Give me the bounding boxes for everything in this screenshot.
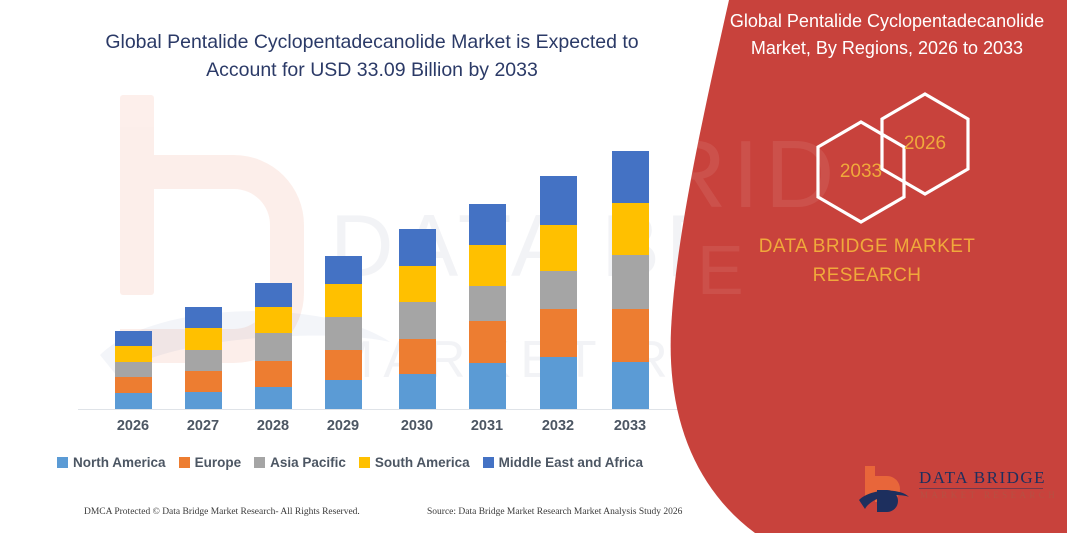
bar-segment-europe bbox=[469, 321, 506, 363]
bar-segment-middle-east-and-africa bbox=[185, 307, 222, 328]
brand-logo: DATA BRIDGE MARKET RESEARCH bbox=[857, 462, 1047, 520]
x-axis-label-2027: 2027 bbox=[173, 418, 233, 434]
footer-source: Source: Data Bridge Market Research Mark… bbox=[427, 507, 682, 517]
bar-segment-north-america bbox=[612, 362, 649, 409]
x-axis-labels: 20262027202820292030203120322033 bbox=[0, 418, 720, 442]
infographic-canvas: DATA BRI MARKET RESEARCH Global Pentalid… bbox=[0, 0, 1067, 533]
legend-item-middle-east-and-africa[interactable]: Middle East and Africa bbox=[483, 455, 643, 470]
bar-segment-middle-east-and-africa bbox=[325, 256, 362, 284]
bar-segment-south-america bbox=[540, 225, 577, 271]
footer: DMCA Protected © Data Bridge Market Rese… bbox=[0, 507, 700, 527]
chart-legend: North AmericaEuropeAsia PacificSouth Ame… bbox=[0, 455, 700, 470]
bar-segment-north-america bbox=[399, 374, 436, 409]
bar-segment-middle-east-and-africa bbox=[255, 283, 292, 307]
x-axis-label-2032: 2032 bbox=[528, 418, 588, 434]
bar-2027[interactable] bbox=[185, 307, 222, 409]
bar-segment-europe bbox=[612, 309, 649, 362]
x-axis-line bbox=[78, 409, 678, 410]
bar-segment-asia-pacific bbox=[399, 302, 436, 339]
bar-2033[interactable] bbox=[612, 151, 649, 409]
bar-segment-europe bbox=[399, 339, 436, 374]
footer-dmca: DMCA Protected © Data Bridge Market Rese… bbox=[84, 507, 360, 517]
bar-segment-asia-pacific bbox=[255, 333, 292, 361]
logo-tagline: MARKET RESEARCH bbox=[920, 490, 1058, 500]
panel-brand-text: DATA BRIDGE MARKET RESEARCH bbox=[707, 232, 1027, 291]
legend-item-europe[interactable]: Europe bbox=[179, 455, 242, 470]
bar-segment-south-america bbox=[115, 346, 152, 362]
x-axis-label-2033: 2033 bbox=[600, 418, 660, 434]
bar-segment-asia-pacific bbox=[185, 350, 222, 371]
legend-label: Asia Pacific bbox=[270, 455, 346, 470]
legend-label: Middle East and Africa bbox=[499, 455, 643, 470]
bar-segment-asia-pacific bbox=[540, 271, 577, 309]
bar-segment-middle-east-and-africa bbox=[540, 176, 577, 225]
bar-segment-europe bbox=[540, 309, 577, 357]
bar-segment-asia-pacific bbox=[115, 362, 152, 377]
data-bridge-logo-icon bbox=[857, 464, 911, 516]
x-axis-label-2026: 2026 bbox=[103, 418, 163, 434]
legend-swatch-icon bbox=[179, 457, 190, 468]
page-title: Global Pentalide Cyclopentadecanolide Ma… bbox=[92, 28, 652, 85]
x-axis-label-2031: 2031 bbox=[457, 418, 517, 434]
bar-segment-south-america bbox=[255, 307, 292, 333]
bar-segment-south-america bbox=[325, 284, 362, 317]
legend-swatch-icon bbox=[57, 457, 68, 468]
bar-2026[interactable] bbox=[115, 331, 152, 409]
x-axis-label-2028: 2028 bbox=[243, 418, 303, 434]
bar-segment-south-america bbox=[185, 328, 222, 350]
bar-segment-middle-east-and-africa bbox=[115, 331, 152, 346]
legend-swatch-icon bbox=[359, 457, 370, 468]
bar-segment-europe bbox=[115, 377, 152, 393]
bar-segment-middle-east-and-africa bbox=[612, 151, 649, 203]
bar-segment-asia-pacific bbox=[469, 286, 506, 321]
bar-segment-middle-east-and-africa bbox=[469, 204, 506, 245]
hexagon-2026: 2026 bbox=[877, 90, 973, 198]
bar-segment-europe bbox=[255, 361, 292, 387]
bar-2031[interactable] bbox=[469, 204, 506, 409]
bar-2030[interactable] bbox=[399, 229, 436, 409]
x-axis-label-2029: 2029 bbox=[313, 418, 373, 434]
legend-item-asia-pacific[interactable]: Asia Pacific bbox=[254, 455, 346, 470]
bar-segment-europe bbox=[185, 371, 222, 392]
bar-segment-north-america bbox=[325, 380, 362, 409]
logo-divider bbox=[919, 488, 1043, 489]
panel-title: Global Pentalide Cyclopentadecanolide Ma… bbox=[727, 8, 1047, 62]
bar-segment-south-america bbox=[469, 245, 506, 286]
bar-2029[interactable] bbox=[325, 256, 362, 409]
legend-swatch-icon bbox=[254, 457, 265, 468]
bar-segment-north-america bbox=[185, 392, 222, 409]
x-axis-label-2030: 2030 bbox=[387, 418, 447, 434]
bar-segment-south-america bbox=[399, 266, 436, 302]
legend-swatch-icon bbox=[483, 457, 494, 468]
legend-item-north-america[interactable]: North America bbox=[57, 455, 166, 470]
legend-label: South America bbox=[375, 455, 470, 470]
legend-item-south-america[interactable]: South America bbox=[359, 455, 470, 470]
bar-segment-south-america bbox=[612, 203, 649, 255]
bar-2028[interactable] bbox=[255, 283, 292, 409]
bar-segment-middle-east-and-africa bbox=[399, 229, 436, 266]
bar-segment-north-america bbox=[540, 357, 577, 409]
hexagon-2026-label: 2026 bbox=[877, 90, 973, 198]
legend-label: North America bbox=[73, 455, 166, 470]
right-panel: RID E Global Pentalide Cyclopentadecanol… bbox=[667, 0, 1067, 533]
bar-segment-europe bbox=[325, 350, 362, 380]
bar-2032[interactable] bbox=[540, 176, 577, 409]
bar-segment-north-america bbox=[115, 393, 152, 409]
bar-segment-asia-pacific bbox=[612, 255, 649, 309]
legend-label: Europe bbox=[195, 455, 242, 470]
logo-wordmark: DATA BRIDGE bbox=[919, 468, 1046, 488]
hexagon-group: 2033 2026 bbox=[667, 100, 1067, 220]
bar-segment-asia-pacific bbox=[325, 317, 362, 350]
bar-segment-north-america bbox=[255, 387, 292, 409]
bar-segment-north-america bbox=[469, 363, 506, 409]
chart-bars-container bbox=[0, 110, 720, 409]
